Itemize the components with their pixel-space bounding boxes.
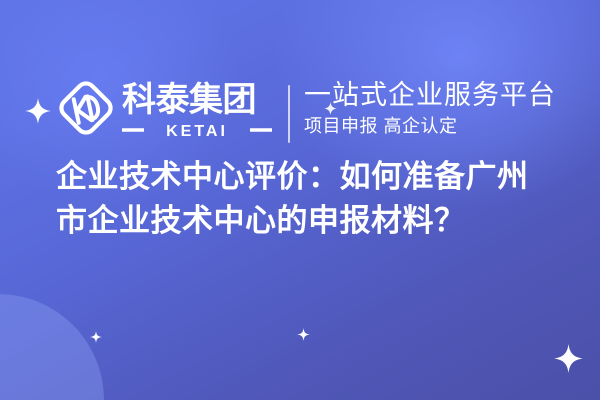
brand-name-cn-text: 科泰集团 — [122, 81, 256, 119]
tagline-block: 一站式企业服务平台 项目申报 高企认定 — [304, 78, 556, 139]
tagline-main: 一站式企业服务平台 — [304, 78, 556, 112]
tagline-sub: 项目申报 高企认定 — [304, 113, 556, 139]
page-title: 企业技术中心评价：如何准备广州市企业技术中心的申报材料？ — [56, 155, 556, 243]
promotional-banner: 科泰集团 KETAI 一站式企业服务平台 项目申报 高企认定 企业技术中心评价：… — [0, 0, 600, 400]
four-point-star-icon — [324, 102, 337, 115]
brand-name-cn: 科泰集团 — [122, 80, 272, 120]
header-divider — [288, 85, 290, 143]
four-point-star-icon — [25, 98, 51, 124]
brand-name-en-text: KETAI — [166, 123, 228, 140]
ketai-logo-icon[interactable] — [57, 79, 115, 137]
circle-shape-bottom-left — [0, 294, 104, 400]
banner-header: 科泰集团 KETAI 一站式企业服务平台 项目申报 高企认定 — [0, 38, 600, 110]
brand-lockup: 科泰集团 KETAI — [122, 80, 278, 139]
brand-name-en: KETAI — [122, 121, 272, 139]
diamond-sparkle-icon — [90, 331, 102, 343]
diamond-sparkle-icon — [297, 328, 310, 341]
four-point-star-icon — [554, 344, 583, 373]
